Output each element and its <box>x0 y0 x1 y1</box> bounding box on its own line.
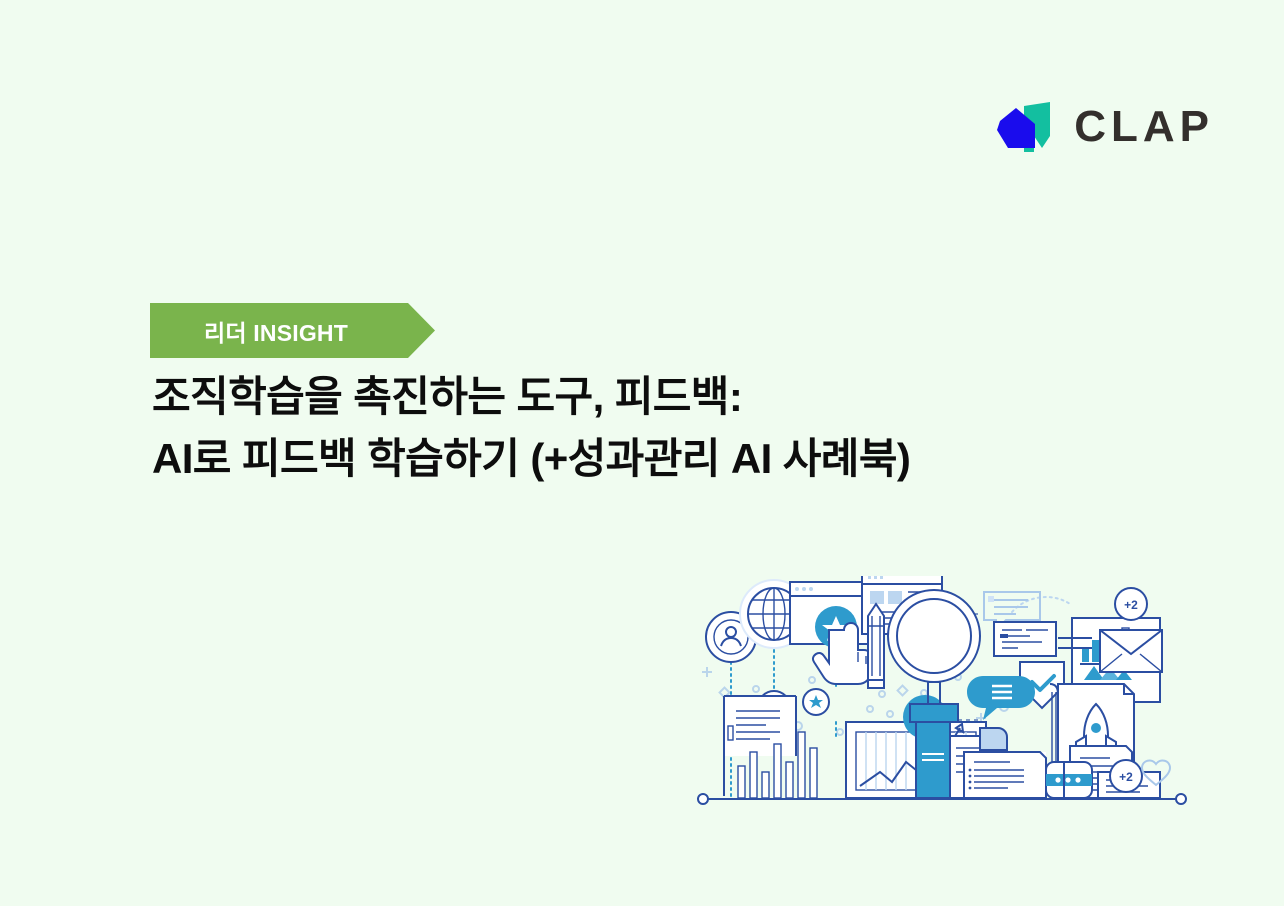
hero-illustration: .ln { fill:none; stroke:#2b4ea2; stroke-… <box>694 576 1190 812</box>
page-title: 조직학습을 촉진하는 도구, 피드백: AI로 피드백 학습하기 (+성과관리 … <box>152 366 1202 490</box>
page-root: CLAP 리더 INSIGHT 조직학습을 촉진하는 도구, 피드백: AI로 … <box>0 0 1284 906</box>
business-analytics-illustration: .ln { fill:none; stroke:#2b4ea2; stroke-… <box>694 576 1190 812</box>
envelope-icon <box>1100 630 1162 672</box>
left-document <box>724 696 796 796</box>
badge-label: 리더 INSIGHT <box>150 303 402 358</box>
page-title-line-2: AI로 피드백 학습하기 (+성과관리 AI 사례북) <box>152 428 1202 490</box>
svg-text:+2: +2 <box>1119 770 1133 784</box>
brand-name: CLAP <box>1074 105 1214 149</box>
clap-logo-mark-icon <box>994 102 1056 152</box>
pencil-icon <box>868 604 884 688</box>
page-title-line-1: 조직학습을 촉진하는 도구, 피드백: <box>152 366 1202 428</box>
mobile-device <box>1046 762 1092 798</box>
svg-text:+2: +2 <box>1124 598 1138 612</box>
document-large-center <box>964 752 1046 798</box>
text-panel-small <box>994 622 1056 656</box>
plus-two-badge-top: +2 <box>1115 588 1147 620</box>
star-badge-small <box>803 689 829 715</box>
badge: 리더 INSIGHT <box>150 303 440 358</box>
chat-bubble-icon <box>967 676 1035 720</box>
brand-logo[interactable]: CLAP <box>994 102 1214 152</box>
